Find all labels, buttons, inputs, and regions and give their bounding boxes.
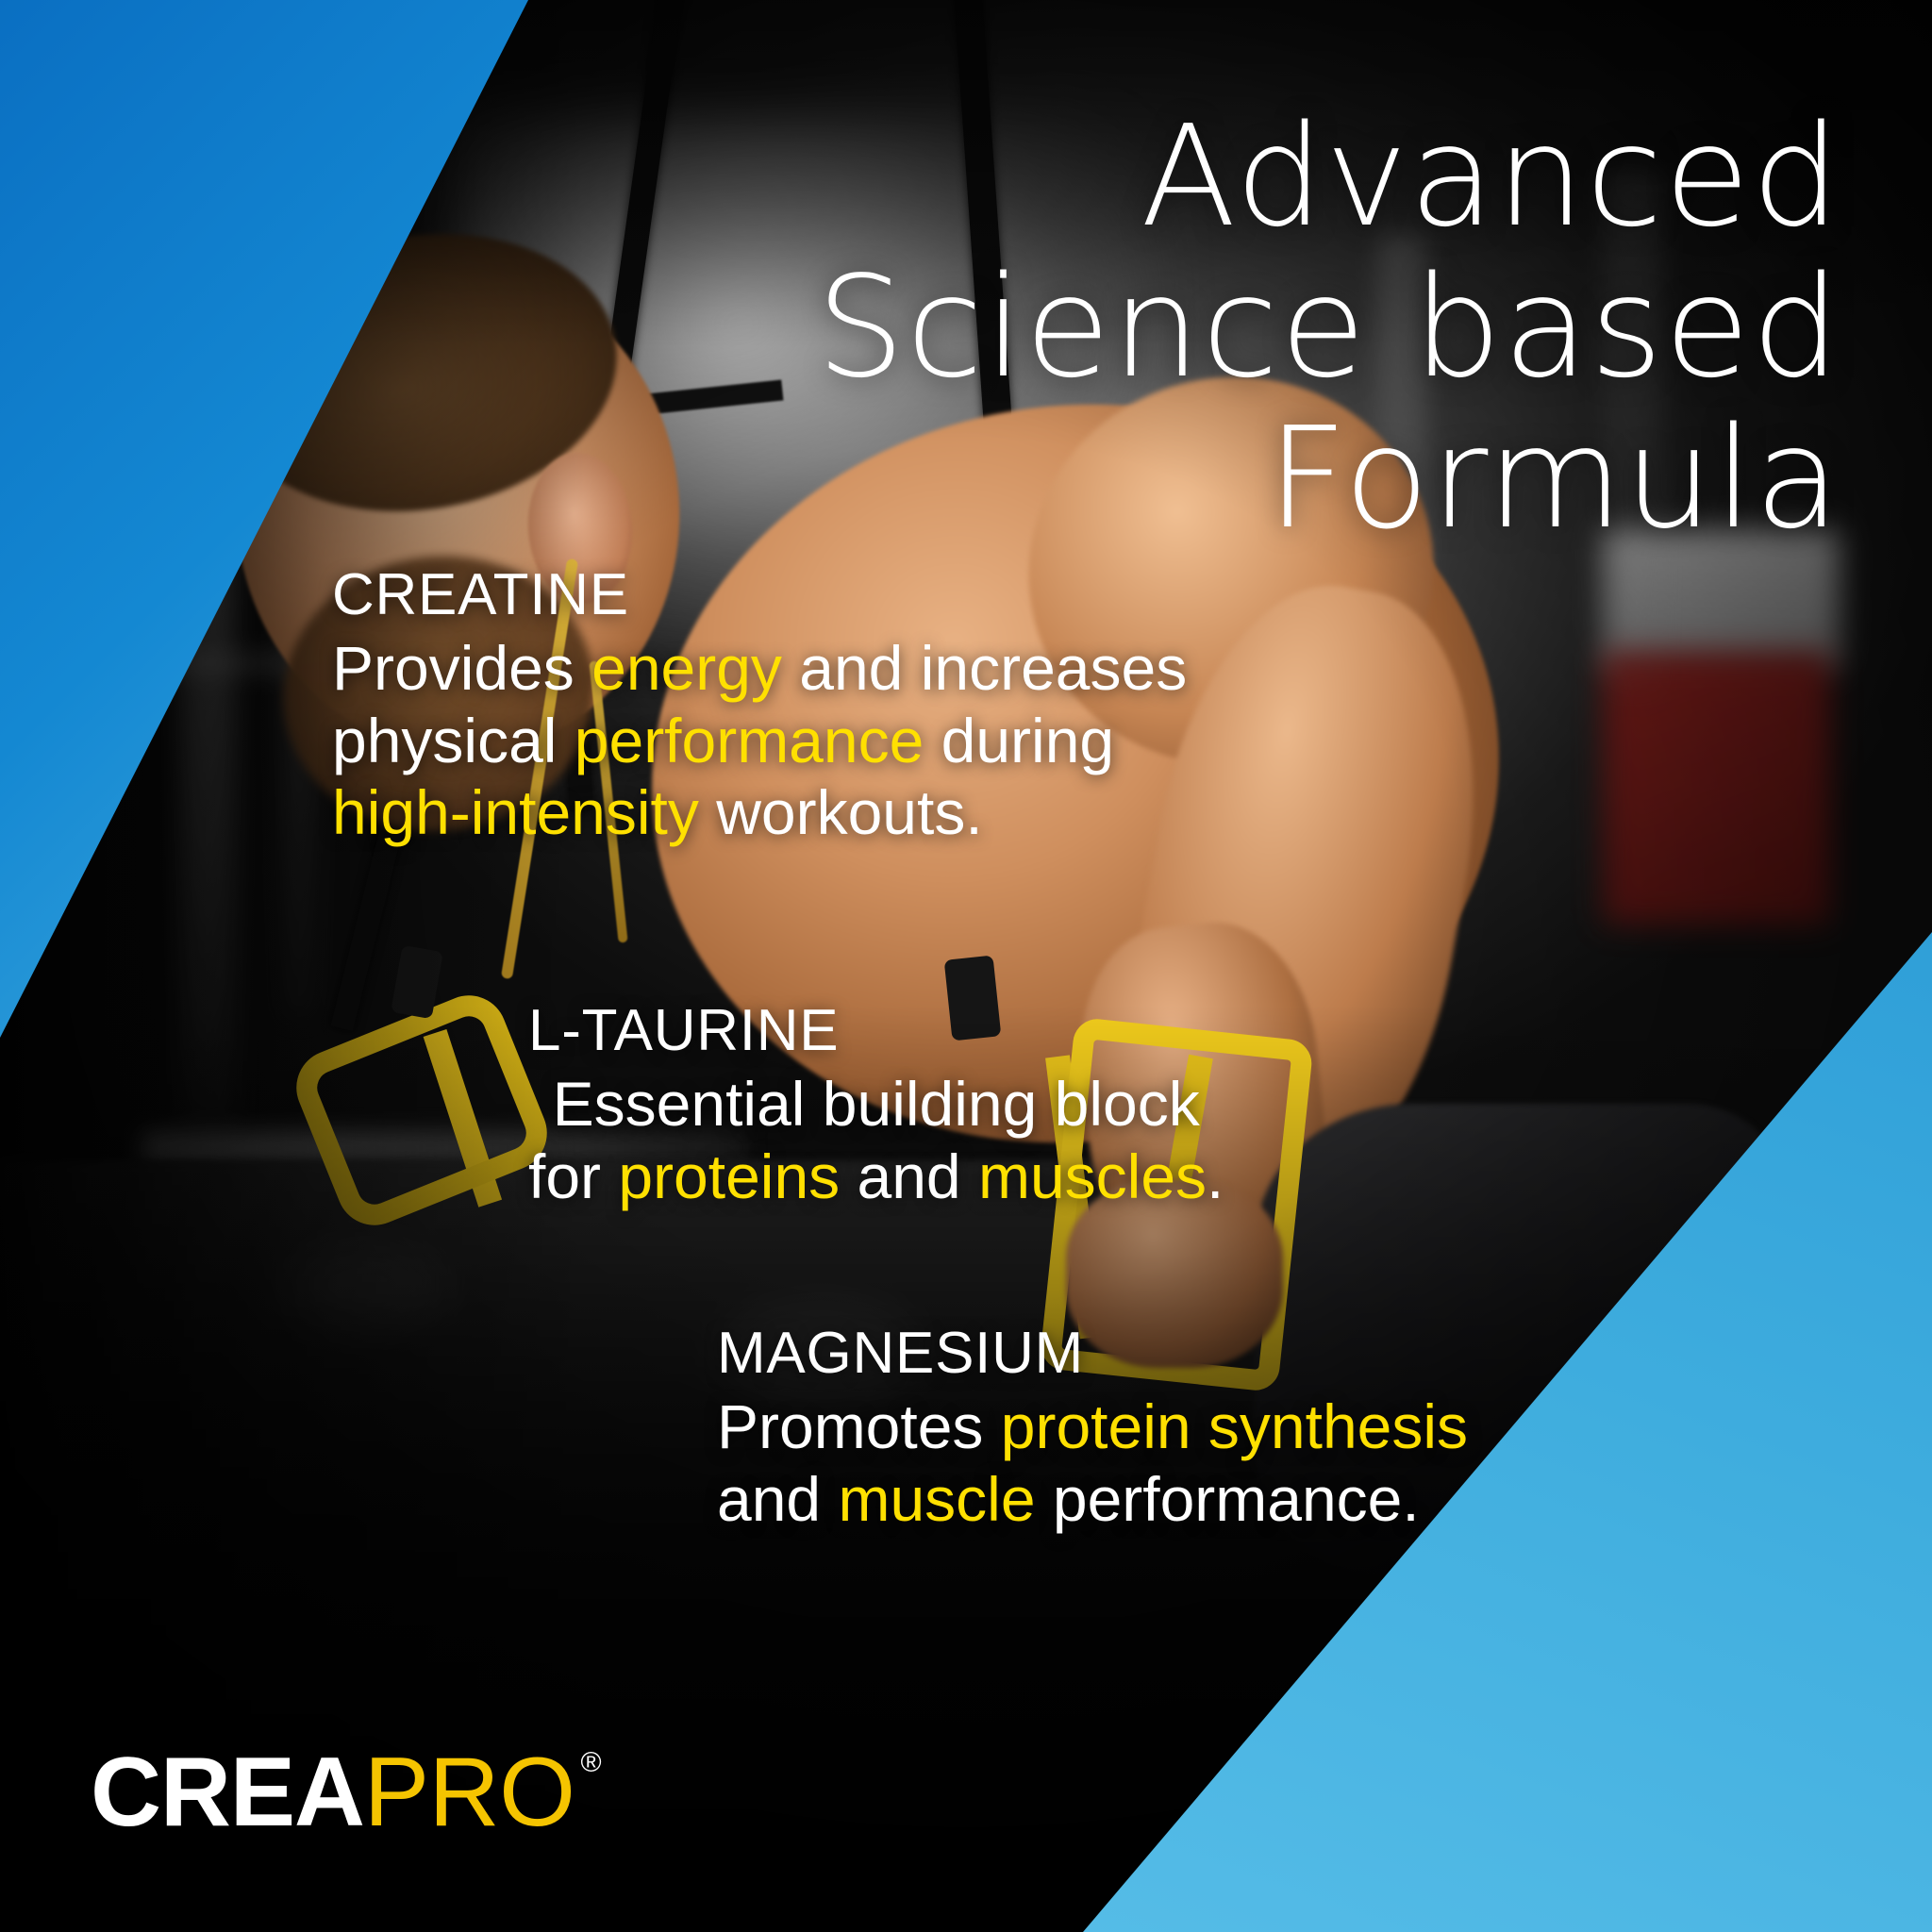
ingredient-title-l-taurine: L-TAURINE: [528, 1002, 1224, 1060]
text-line: for proteins and muscles.: [528, 1141, 1224, 1213]
text-run: Essential building block: [553, 1069, 1200, 1139]
text-line: Provides energy and increases: [332, 632, 1187, 705]
ingredient-block-l-taurine: L-TAURINE Essential building blockfor pr…: [528, 1002, 1224, 1212]
highlighted-keyword: proteins: [618, 1141, 840, 1211]
promo-poster: Advanced Science based Formula CREATINE …: [0, 0, 1932, 1932]
highlighted-keyword: muscle: [838, 1464, 1035, 1534]
ingredient-description-magnesium: Promotes protein synthesisand muscle per…: [717, 1391, 1468, 1535]
ingredient-description-creatine: Provides energy and increasesphysical pe…: [332, 632, 1187, 849]
text-run: performance.: [1036, 1464, 1420, 1534]
text-run: and: [717, 1464, 838, 1534]
highlighted-keyword: muscles: [978, 1141, 1207, 1211]
text-run: Provides: [332, 633, 591, 703]
ingredient-title-creatine: CREATINE: [332, 566, 1187, 625]
ingredient-description-l-taurine: Essential building blockfor proteins and…: [528, 1068, 1224, 1212]
registered-trademark-icon: ®: [581, 1749, 602, 1777]
headline: Advanced Science based Formula: [502, 102, 1841, 554]
headline-line-1: Advanced: [502, 102, 1841, 253]
ingredient-block-creatine: CREATINE Provides energy and increasesph…: [332, 566, 1187, 849]
headline-line-2: Science based: [502, 253, 1841, 404]
logo-word-pro: PRO: [364, 1743, 575, 1841]
text-line: high-intensity workouts.: [332, 776, 1187, 849]
highlighted-keyword: protein synthesis: [1001, 1391, 1468, 1461]
text-run: Promotes: [717, 1391, 1001, 1461]
text-run: workouts.: [699, 777, 983, 847]
text-run: for: [528, 1141, 618, 1211]
text-run: and: [840, 1141, 978, 1211]
text-line: Promotes protein synthesis: [717, 1391, 1468, 1463]
highlighted-keyword: performance: [575, 706, 924, 775]
ingredient-block-magnesium: MAGNESIUM Promotes protein synthesisand …: [717, 1324, 1468, 1535]
text-line: and muscle performance.: [717, 1463, 1468, 1536]
highlighted-keyword: high-intensity: [332, 777, 699, 847]
text-line: Essential building block: [528, 1068, 1224, 1141]
ingredient-title-magnesium: MAGNESIUM: [717, 1324, 1468, 1383]
text-line: physical performance during: [332, 705, 1187, 777]
text-run: physical: [332, 706, 575, 775]
creapro-logo: CREA PRO ®: [91, 1743, 602, 1841]
highlighted-keyword: energy: [591, 633, 782, 703]
text-run: .: [1207, 1141, 1224, 1211]
text-run: and increases: [782, 633, 1187, 703]
headline-line-3: Formula: [502, 404, 1841, 555]
text-run: during: [924, 706, 1114, 775]
logo-word-crea: CREA: [91, 1743, 364, 1841]
